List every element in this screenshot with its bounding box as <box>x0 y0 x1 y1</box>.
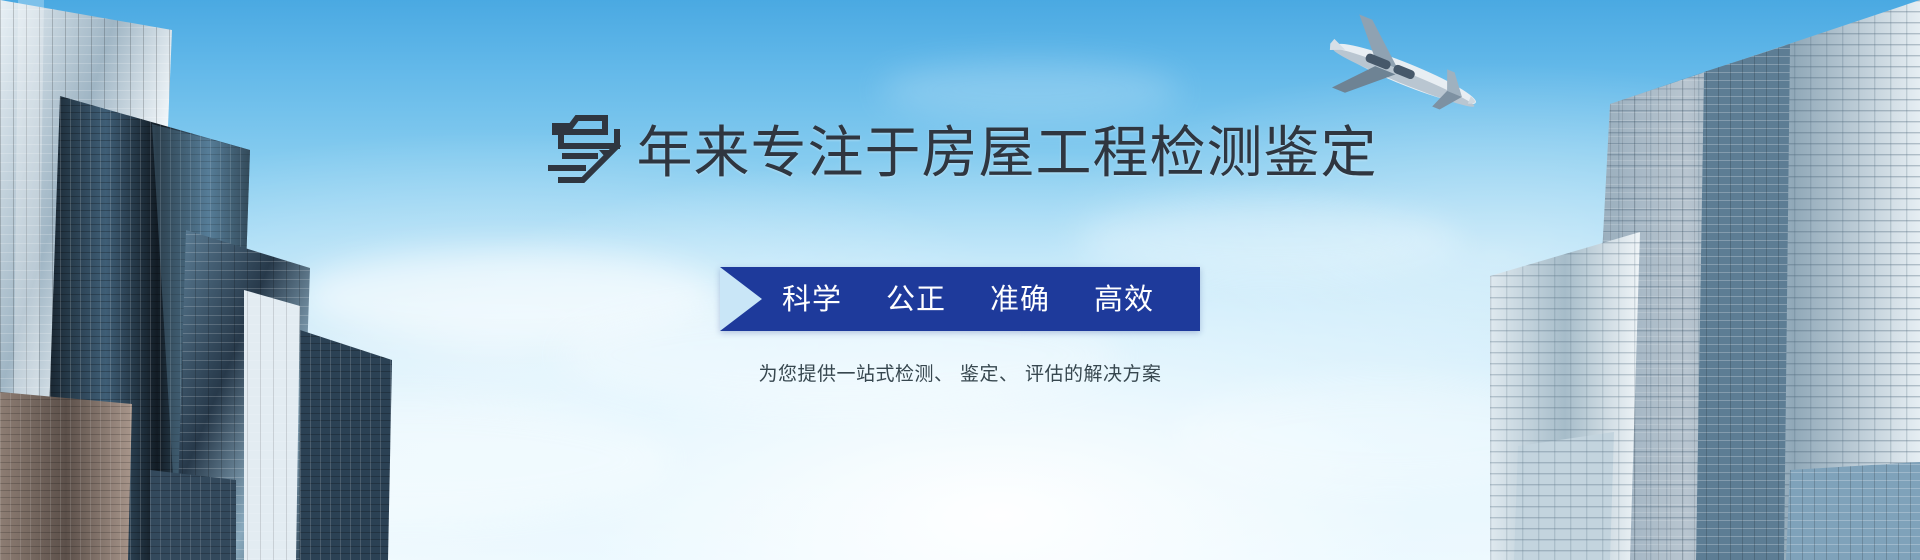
ribbon-word-4: 高效 <box>1094 267 1154 331</box>
cloud-icon <box>880 60 1180 120</box>
subtitle: 为您提供一站式检测、 鉴定、 评估的解决方案 <box>0 359 1920 386</box>
stylized-duo-character-icon <box>543 112 635 188</box>
ribbon-banner: 科学 公正 准确 高效 <box>0 267 1920 331</box>
ribbon-word-3: 准确 <box>990 267 1050 331</box>
headline-text: 年来专注于房屋工程检测鉴定 <box>637 124 1378 184</box>
ribbon-word-2: 公正 <box>886 267 946 331</box>
ribbon-shape: 科学 公正 准确 高效 <box>720 267 1200 331</box>
duo-glyph-svg <box>543 112 635 188</box>
headline: 年来专注于房屋工程检测鉴定 <box>0 112 1920 193</box>
hero-banner: 年来专注于房屋工程检测鉴定 科学 公正 准确 高效 为您提供一站式检测、 鉴定、… <box>0 0 1920 560</box>
ribbon-word-1: 科学 <box>782 267 842 331</box>
